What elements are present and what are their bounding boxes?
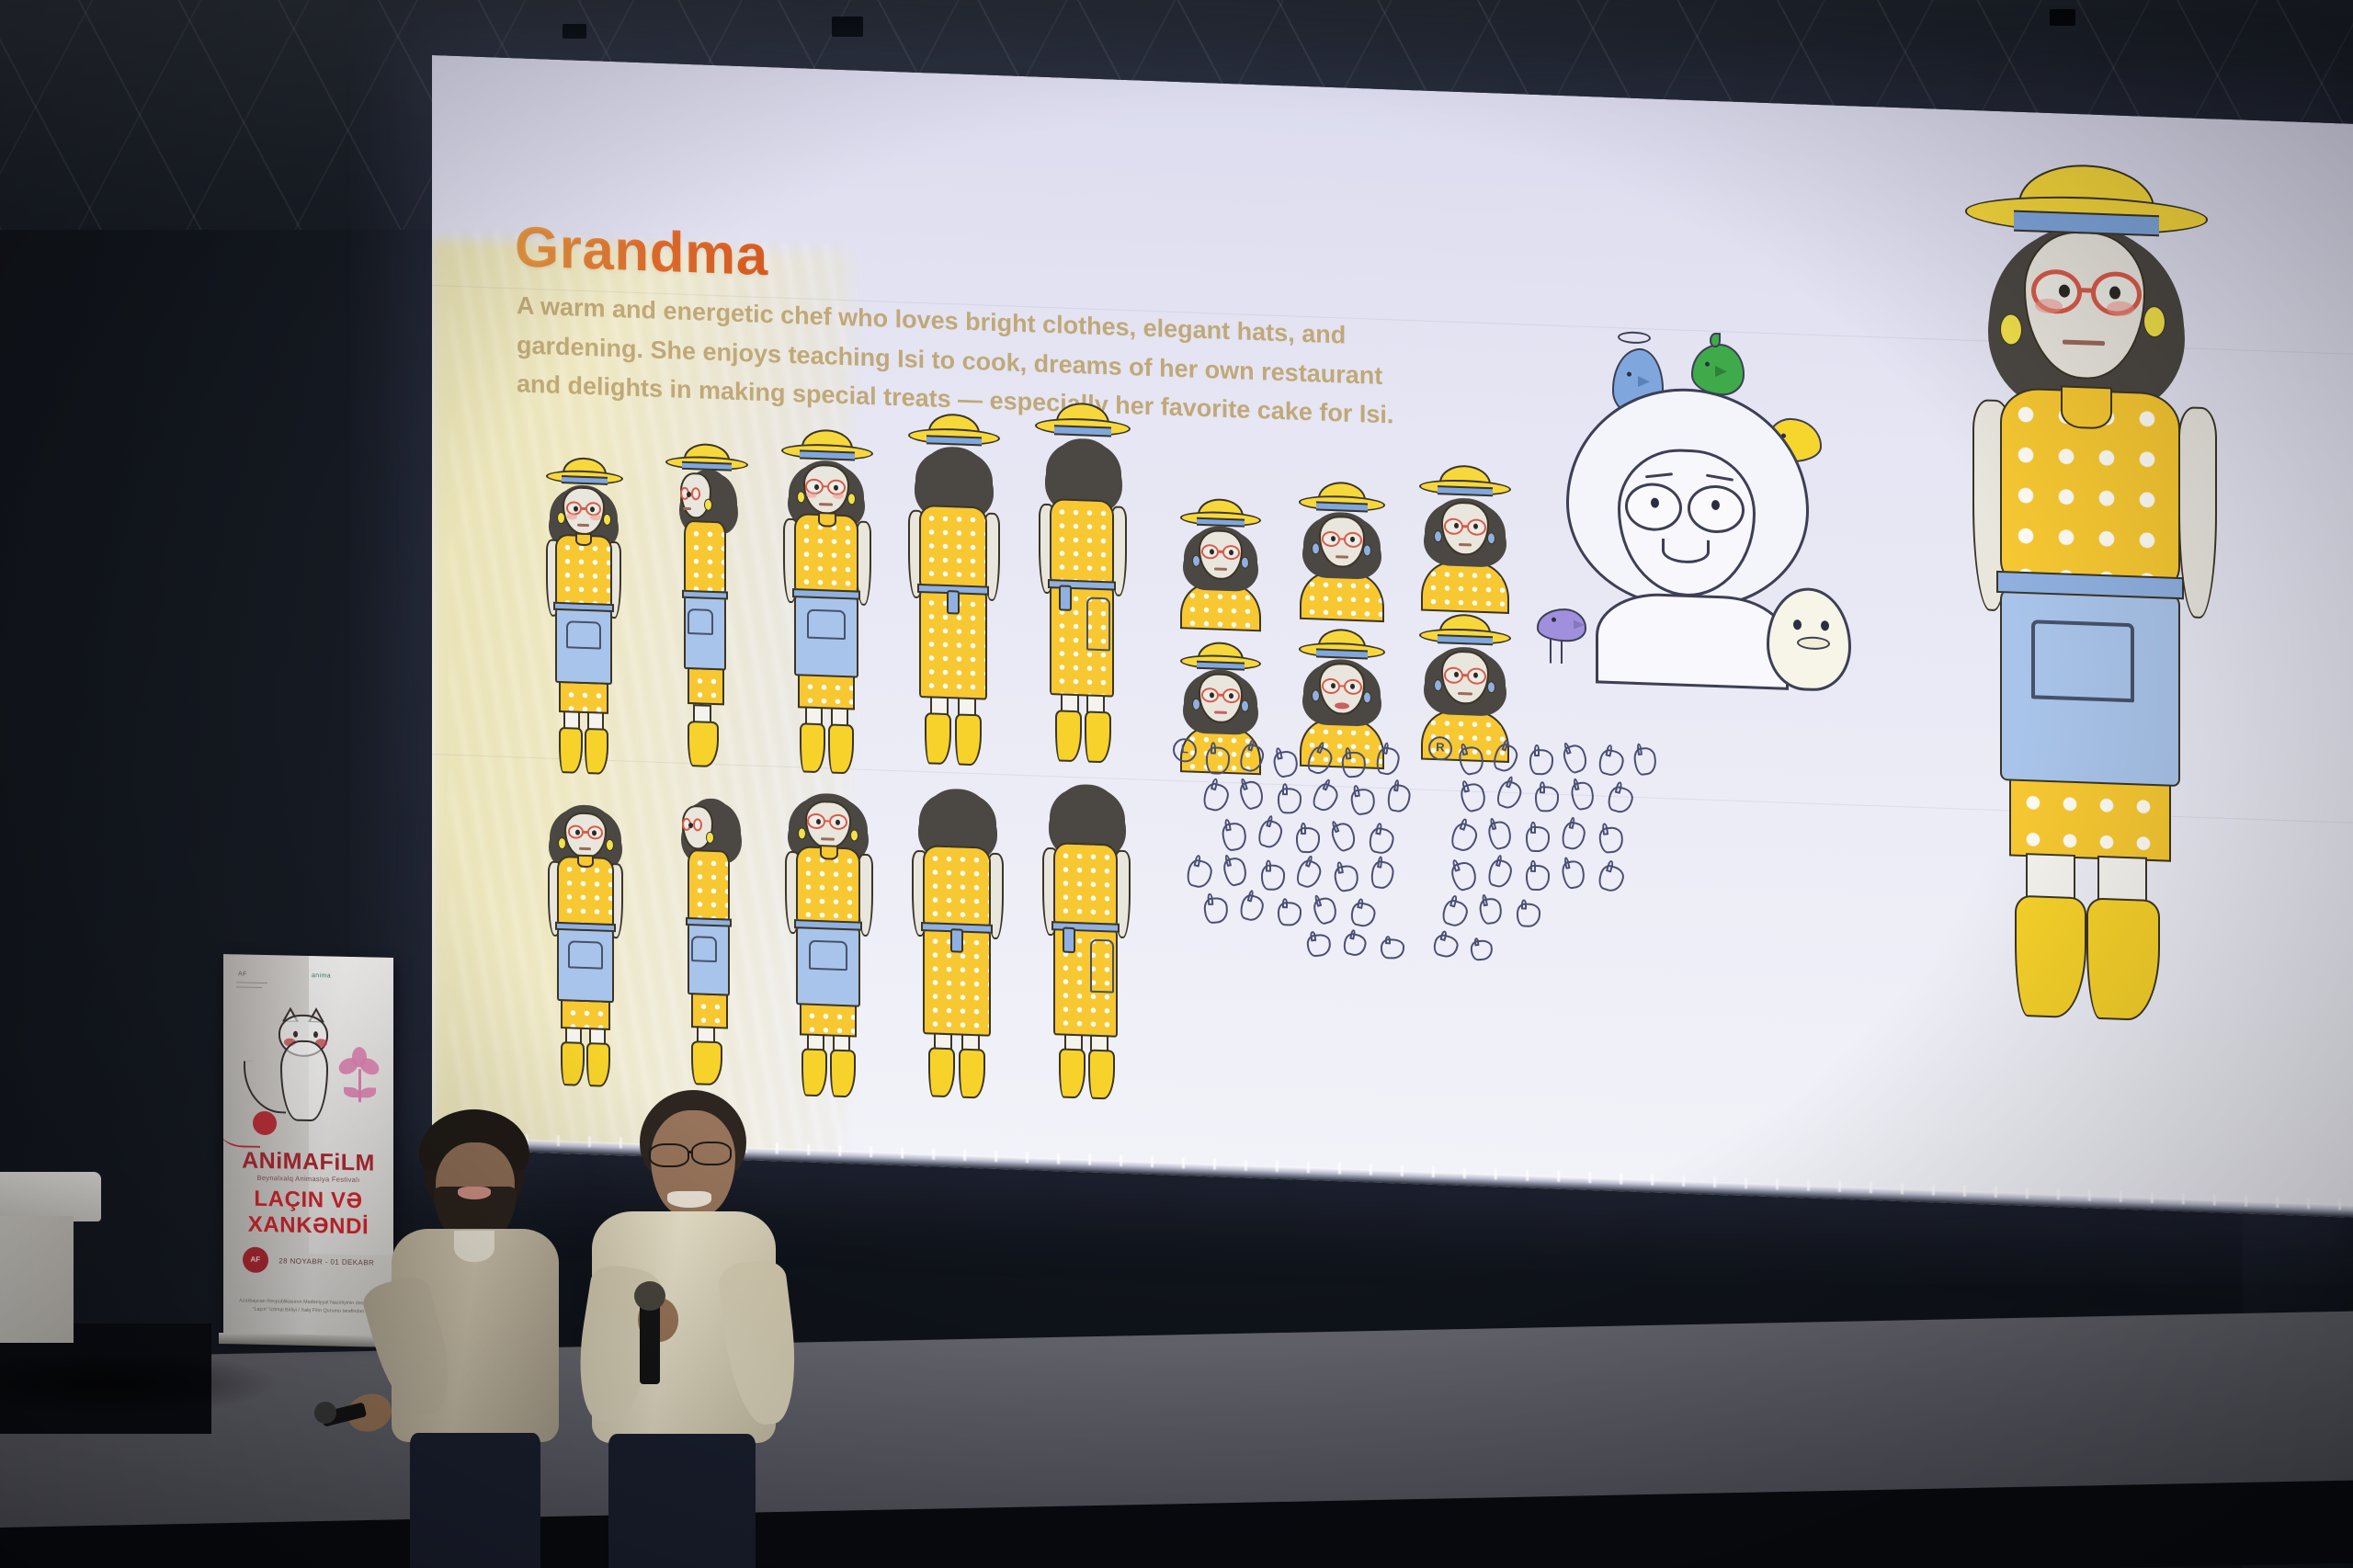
hero-pocket: [2031, 619, 2134, 702]
glasses-icon: [568, 824, 603, 839]
glasses-icon: [807, 813, 847, 831]
purple-bird-icon: [1537, 608, 1586, 642]
piano-body: [0, 1216, 74, 1343]
hand-study-sheet: L R: [1167, 725, 1682, 964]
green-bird-icon: [1691, 343, 1745, 396]
expression-head-content: [1296, 491, 1388, 623]
straw-hat-icon: [1180, 510, 1261, 551]
hero-boot-right: [2086, 897, 2160, 1021]
hero-earring-icon: [2143, 306, 2165, 338]
banner-footer-credits: Azərbaycan Respublikasının Mədəniyyət Na…: [234, 1297, 382, 1317]
straw-hat-icon: [908, 427, 1000, 475]
slide-title: Grandma: [515, 214, 768, 289]
ceiling-vent-icon: [832, 17, 863, 37]
turnaround-figure-back-hat: [899, 414, 1009, 785]
straw-hat-icon: [1035, 416, 1131, 466]
yarn-ball-icon: [253, 1111, 277, 1136]
banner-date-badge: AF: [243, 1246, 268, 1273]
turnaround-figure-side-hat: [653, 438, 754, 782]
straw-hat-icon: [1299, 642, 1385, 685]
presenter-left: [368, 1098, 588, 1568]
slide-body-text: A warm and energetic chef who loves brig…: [517, 286, 1436, 437]
turnaround-figure-front-hat: [533, 454, 634, 779]
banner-logo-right: anima: [312, 972, 331, 979]
presenter-right-mic-head: [634, 1281, 665, 1311]
hero-earring-icon: [2000, 313, 2022, 346]
straw-hat-icon: [665, 455, 748, 494]
hand-label-right: R: [1428, 736, 1452, 761]
presenter-right: [570, 1077, 800, 1568]
hero-straw-hat-icon: [1965, 193, 2208, 297]
hand-label-left: L: [1173, 738, 1197, 763]
presenter-right-microphone: [640, 1300, 660, 1384]
banner-date-text: 28 NOYABR - 01 DEKABR: [278, 1256, 374, 1267]
flower-icon: [341, 1047, 378, 1105]
cat-tail: [244, 1062, 286, 1114]
turnaround-figure-threequarter-nohat: [774, 791, 884, 1119]
blue-bird-halo-icon: [1618, 331, 1651, 344]
hero-grandma-figure: [1939, 174, 2243, 846]
turnaround-figure-back-threequarter-hat: [1028, 405, 1138, 786]
white-chick-icon: [1767, 586, 1851, 692]
straw-hat-icon: [546, 469, 623, 508]
presentation-slide: Grandma A warm and energetic chef who lo…: [432, 55, 2353, 1218]
turnaround-figure-back-threequarter-nohat: [1031, 782, 1142, 1133]
straw-hat-icon: [1419, 627, 1511, 673]
presenter-right-glasses-icon: [691, 1142, 732, 1165]
grand-piano: [0, 1172, 101, 1392]
expression-head-neutral: [1176, 505, 1265, 631]
auditorium-stage-photo: Grandma A warm and energetic chef who lo…: [0, 0, 2353, 1568]
presenter-right-trousers: [608, 1434, 756, 1568]
hero-arm-right: [2178, 406, 2217, 619]
hero-underskirt: [2009, 777, 2171, 861]
straw-hat-icon: [1299, 494, 1385, 538]
turnaround-figure-back-nohat: [903, 787, 1013, 1129]
turnaround-figure-front-nohat: [535, 803, 636, 1110]
presenter-right-glasses-icon: [649, 1143, 689, 1167]
ceiling-vent-icon: [2050, 9, 2075, 26]
ceiling-vent-icon: [563, 24, 586, 39]
sketch-torso: [1596, 591, 1789, 690]
cat-body: [280, 1040, 328, 1121]
straw-hat-icon: [781, 443, 873, 489]
hero-collar: [2061, 385, 2112, 429]
cat-illustration: [247, 1008, 339, 1128]
banner-logo-left: AF: [238, 971, 247, 977]
presenter-left-trousers: [410, 1433, 540, 1568]
projection-screen: Grandma A warm and energetic chef who lo…: [432, 55, 2353, 1218]
presenter-left-mic-head: [314, 1402, 336, 1424]
hero-boot-left: [2015, 895, 2086, 1019]
turnaround-figure-threequarter-hat: [772, 427, 882, 790]
banner-partner-logos: AF anima: [233, 971, 384, 992]
piano-lid: [0, 1172, 101, 1221]
grandma-sketch-panel: [1517, 305, 1903, 687]
turnaround-figure-side-nohat: [656, 797, 757, 1113]
expression-head-smiling: [1417, 476, 1513, 614]
straw-hat-icon: [1419, 478, 1511, 524]
straw-hat-icon: [1180, 653, 1261, 695]
